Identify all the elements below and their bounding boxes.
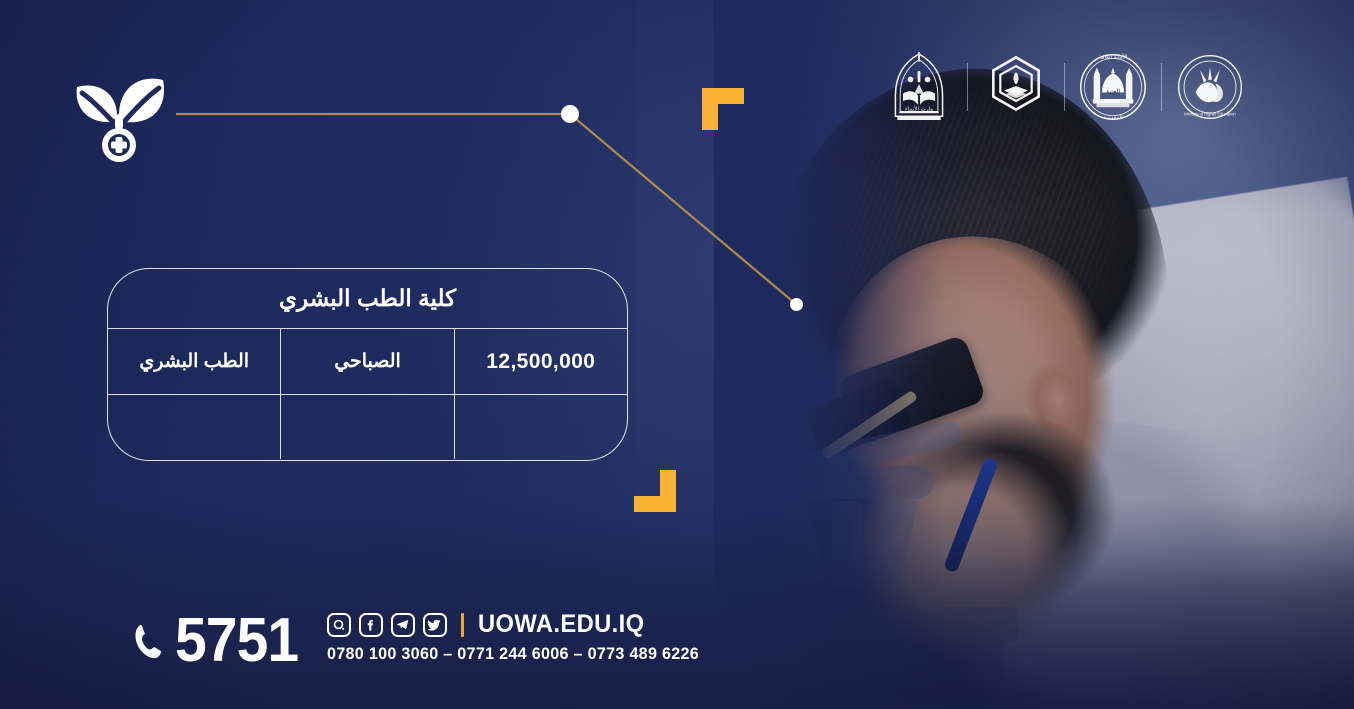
- phone-handset-icon: [131, 620, 165, 664]
- facebook-icon[interactable]: [359, 613, 383, 637]
- svg-text:وارث الأنبياء: وارث الأنبياء: [905, 104, 933, 113]
- contact-block: UOWA.EDU.IQ 0780 100 3060 – 0771 244 600…: [327, 610, 719, 667]
- hotline-block[interactable]: 5751: [131, 616, 309, 667]
- table-cell-fee-empty: [455, 395, 627, 459]
- al-abbas-holy-shrine-logo: العتبة الأمانة العامة المقدسة: [1077, 47, 1149, 127]
- telegram-icon[interactable]: [391, 613, 415, 637]
- phone-numbers: 0780 100 3060 – 0771 244 6006 – 0773 489…: [327, 644, 699, 664]
- table-row: [108, 394, 627, 459]
- separator-bar: [461, 613, 464, 637]
- connector-node-lower: [790, 298, 803, 311]
- hexagon-book-pen-logo: [980, 47, 1052, 127]
- connector-node-upper: [561, 105, 579, 123]
- twitter-icon[interactable]: [423, 613, 447, 637]
- university-of-warith-al-anbiyaa-logo: وارث الأنبياء: [883, 47, 955, 127]
- medical-plant-cross-icon: [72, 62, 168, 162]
- svg-text:المقدسة: المقدسة: [1103, 114, 1123, 121]
- admission-banner: كلية الطب البشري 12,500,000 الصباحي الطب…: [0, 0, 1354, 709]
- svg-text:العتبة: العتبة: [1106, 88, 1120, 95]
- table-row: 12,500,000 الصباحي الطب البشري: [108, 329, 627, 394]
- svg-text:الأمانة العامة: الأمانة العامة: [1099, 51, 1128, 60]
- instagram-icon[interactable]: [327, 613, 351, 637]
- logo-divider: [1161, 63, 1162, 111]
- footer: 5751: [0, 579, 1354, 709]
- table-cell-fee: 12,500,000: [455, 329, 627, 394]
- website-url[interactable]: UOWA.EDU.IQ: [478, 610, 644, 639]
- table-cell-department: الطب البشري: [108, 329, 281, 394]
- corner-bracket-bottom: [634, 470, 676, 512]
- logo-divider: [1064, 63, 1065, 111]
- svg-text:Ministry of Higher Education: Ministry of Higher Education: [1184, 112, 1236, 117]
- tuition-table: كلية الطب البشري 12,500,000 الصباحي الطب…: [107, 268, 628, 461]
- ministry-of-higher-education-logo: Ministry of Higher Education: [1174, 47, 1246, 127]
- table-cell-study-type-empty: [281, 395, 454, 459]
- logo-divider: [967, 63, 968, 111]
- corner-bracket-top: [702, 88, 744, 130]
- institution-logos: وارث الأنبياء: [883, 47, 1246, 127]
- table-cell-department-empty: [108, 395, 281, 459]
- table-cell-study-type: الصباحي: [281, 329, 454, 394]
- hotline-number: 5751: [175, 616, 298, 667]
- table-title: كلية الطب البشري: [108, 269, 627, 329]
